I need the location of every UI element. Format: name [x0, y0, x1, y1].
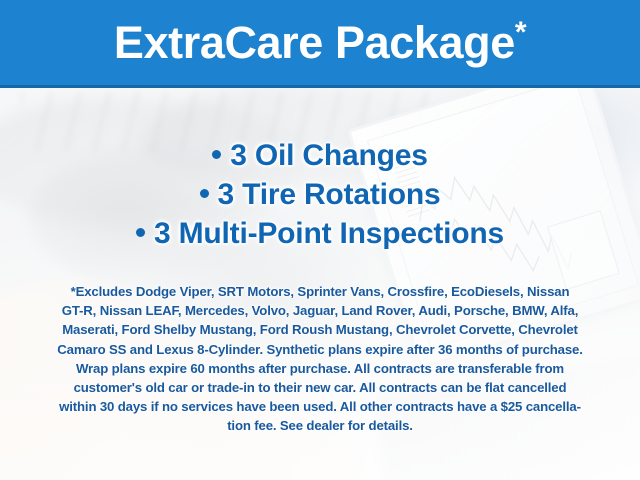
extracare-package-promo: ExtraCare Package* 3: [0, 0, 640, 480]
disclaimer-line: Camaro SS and Lexus 8-Cylinder. Syntheti…: [20, 340, 620, 359]
benefit-item: 3 Multi-Point Inspections: [0, 214, 640, 253]
disclaimer-line: customer's old car or trade-in to their …: [20, 378, 620, 397]
bullet-dot-icon: [200, 189, 209, 198]
disclaimer-line: within 30 days if no services have been …: [20, 397, 620, 416]
disclaimer-line: GT-R, Nissan LEAF, Mercedes, Volvo, Jagu…: [20, 301, 620, 320]
benefit-item: 3 Tire Rotations: [0, 175, 640, 214]
bullet-dot-icon: [136, 228, 145, 237]
disclaimer-text: *Excludes Dodge Viper, SRT Motors, Sprin…: [20, 282, 620, 436]
disclaimer-line: *Excludes Dodge Viper, SRT Motors, Sprin…: [20, 282, 620, 301]
title-asterisk: *: [515, 16, 526, 49]
page-title: ExtraCare Package*: [114, 20, 526, 65]
benefit-label: 3 Multi-Point Inspections: [154, 217, 504, 250]
disclaimer-line: Maserati, Ford Shelby Mustang, Ford Rous…: [20, 320, 620, 339]
promo-content: 3 Oil Changes 3 Tire Rotations 3 Multi-P…: [0, 88, 640, 480]
benefit-label: 3 Tire Rotations: [218, 178, 441, 211]
benefits-list: 3 Oil Changes 3 Tire Rotations 3 Multi-P…: [0, 136, 640, 253]
benefit-label: 3 Oil Changes: [230, 139, 427, 172]
disclaimer-line: tion fee. See dealer for details.: [20, 416, 620, 435]
header-banner: ExtraCare Package*: [0, 0, 640, 88]
bullet-dot-icon: [212, 150, 221, 159]
benefit-item: 3 Oil Changes: [0, 136, 640, 175]
disclaimer-line: Wrap plans expire 60 months after purcha…: [20, 359, 620, 378]
page-title-text: ExtraCare Package: [114, 17, 515, 68]
